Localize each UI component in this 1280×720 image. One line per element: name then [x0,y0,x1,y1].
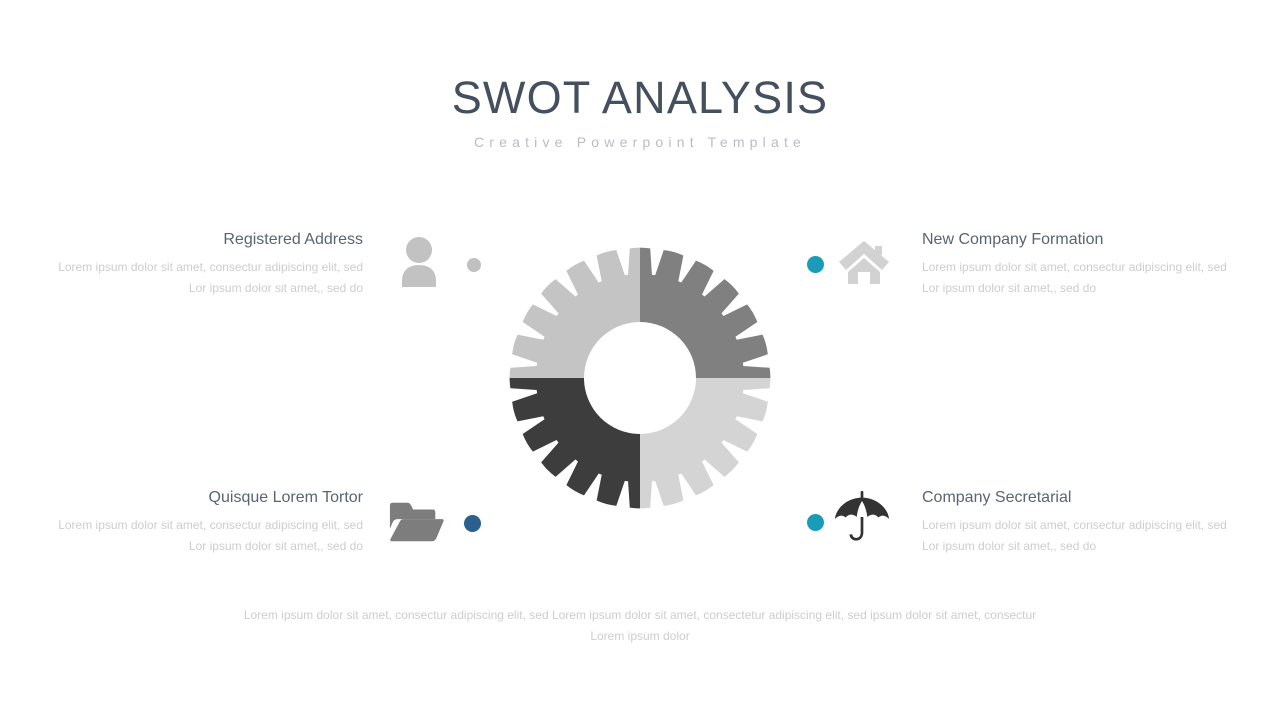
quadrant-body: Lorem ipsum dolor sit amet, consectur ad… [922,257,1227,299]
quadrant-icon-column [363,230,471,286]
open-folder-icon [388,494,444,550]
quadrant-registered-address[interactable]: Registered Address Lorem ipsum dolor sit… [58,230,471,299]
page-subtitle: Creative Powerpoint Template [0,132,1280,152]
quadrant-bullet-dot [467,258,481,272]
title-block: SWOT ANALYSIS Creative Powerpoint Templa… [0,72,1280,152]
quadrant-body: Lorem ipsum dolor sit amet, consectur ad… [58,515,363,557]
house-icon [836,234,892,290]
quadrant-company-secretarial[interactable]: Company Secretarial Lorem ipsum dolor si… [806,488,1227,557]
quadrant-body: Lorem ipsum dolor sit amet, consectur ad… [922,515,1227,557]
footer-text: Lorem ipsum dolor sit amet, consectur ad… [240,605,1040,647]
quadrant-bullet-dot [807,256,824,273]
quadrant-text: Company Secretarial Lorem ipsum dolor si… [922,488,1227,557]
quadrant-heading: Company Secretarial [922,488,1227,508]
quadrant-bullet-dot [464,515,481,532]
quadrant-heading: Registered Address [58,230,363,250]
quadrant-text: New Company Formation Lorem ipsum dolor … [922,230,1227,299]
quadrant-icon-column [806,230,914,286]
quadrant-text: Registered Address Lorem ipsum dolor sit… [58,230,363,299]
quadrant-icon-column [806,488,914,544]
umbrella-icon [834,488,890,544]
quadrant-bullet-dot [807,514,824,531]
page-title: SWOT ANALYSIS [0,72,1280,124]
quadrant-icon-column [363,488,471,544]
quadrant-text: Quisque Lorem Tortor Lorem ipsum dolor s… [58,488,363,557]
gear-diagram [505,243,775,513]
gear-hub [584,322,696,434]
person-icon [391,234,447,290]
quadrant-quisque-lorem-tortor[interactable]: Quisque Lorem Tortor Lorem ipsum dolor s… [58,488,471,557]
quadrant-heading: New Company Formation [922,230,1227,250]
quadrant-new-company-formation[interactable]: New Company Formation Lorem ipsum dolor … [806,230,1227,299]
quadrant-body: Lorem ipsum dolor sit amet, consectur ad… [58,257,363,299]
quadrant-heading: Quisque Lorem Tortor [58,488,363,508]
